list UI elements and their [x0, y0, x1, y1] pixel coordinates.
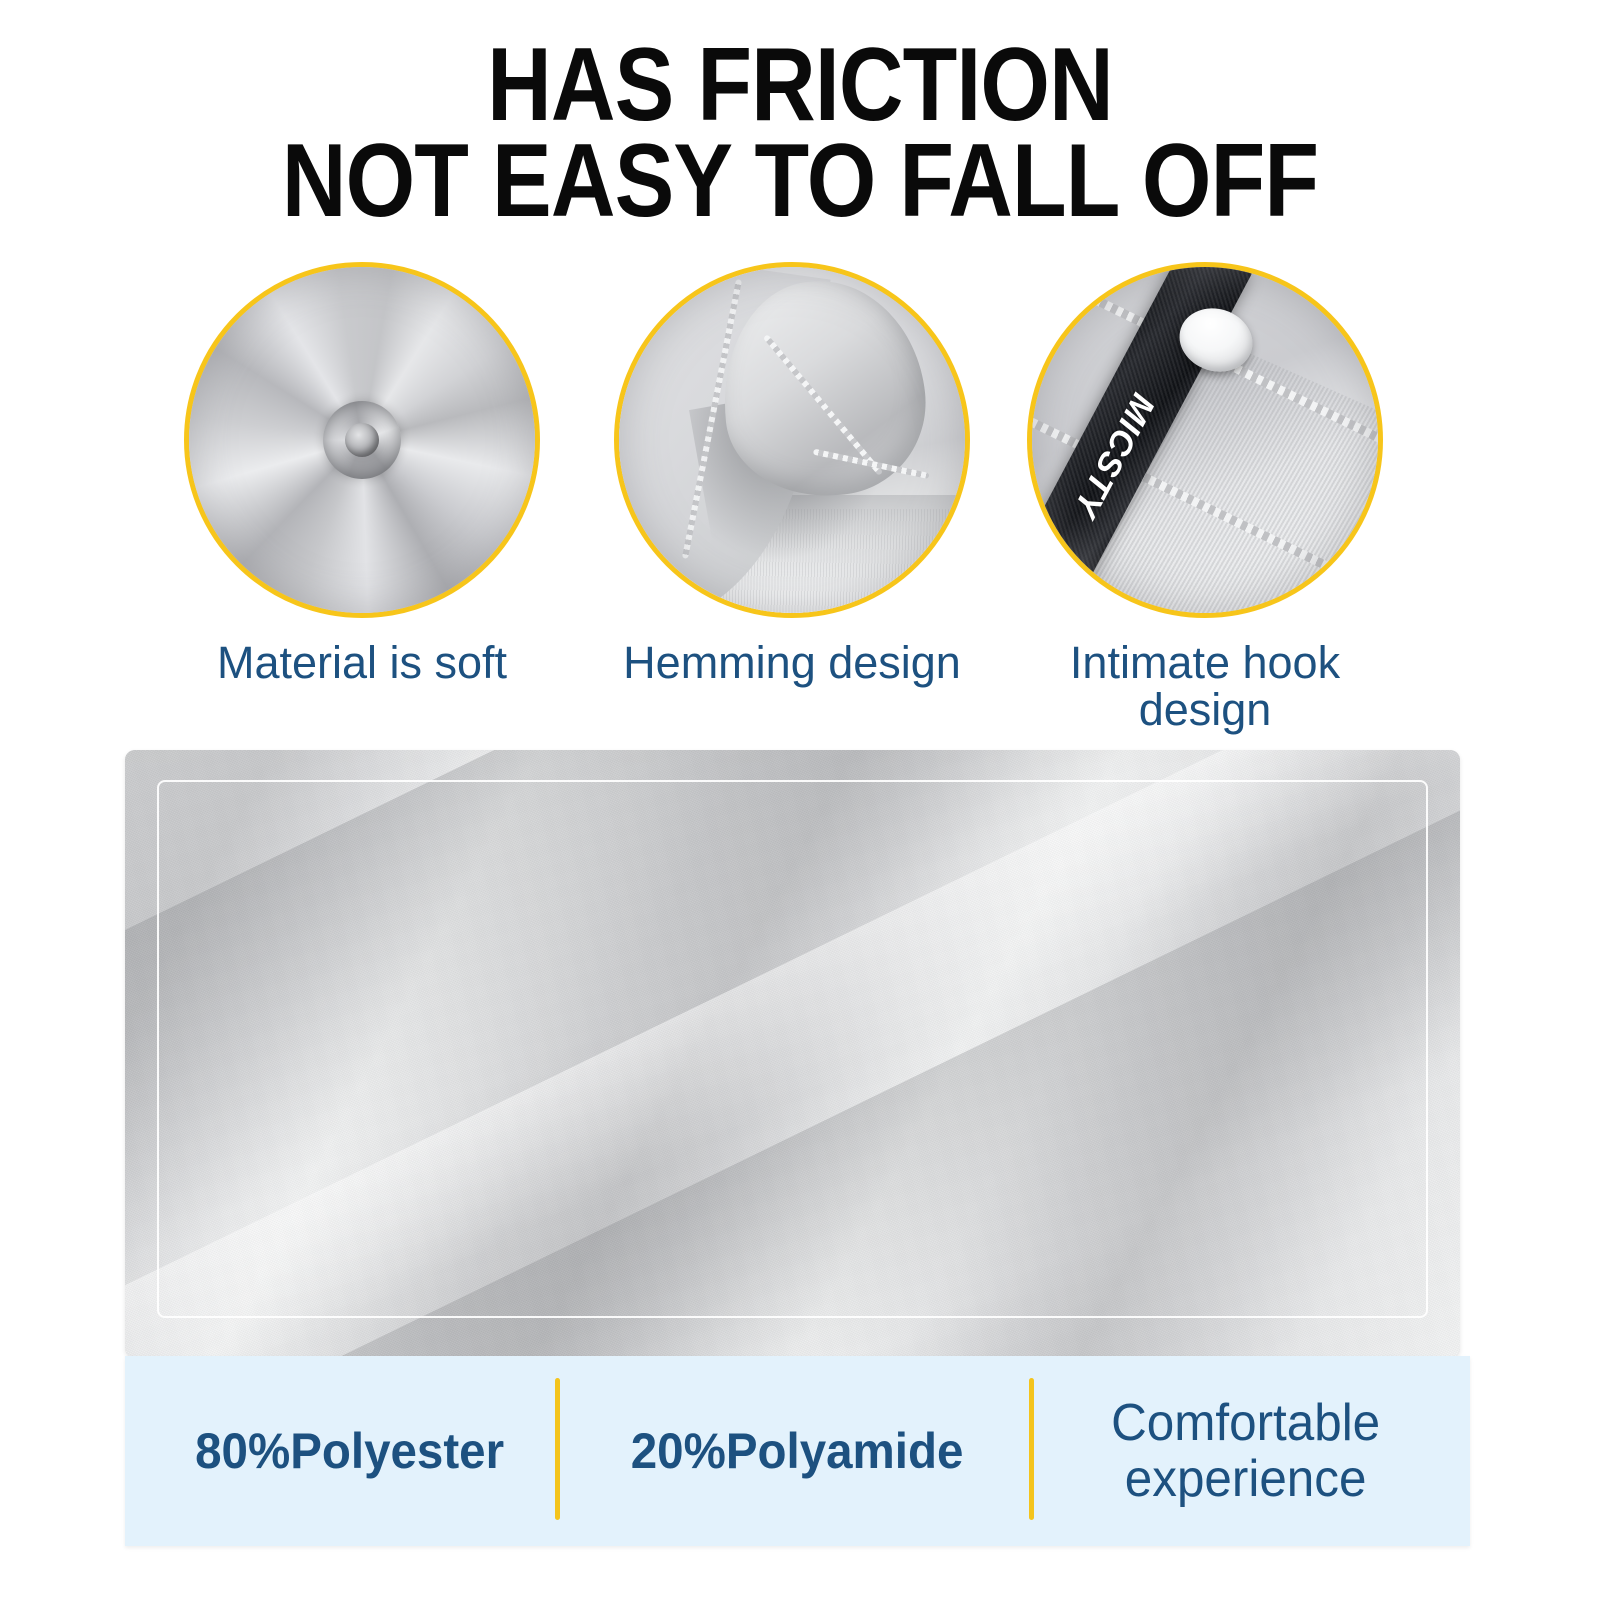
- hero-fabric-photo: [125, 750, 1460, 1358]
- twisted-fabric-photo: [189, 267, 535, 613]
- hemmed-edge-icon: [614, 262, 970, 618]
- info-cell-polyamide: 20%Polyamide: [573, 1356, 1021, 1546]
- hero-inset-border: [157, 780, 1428, 1318]
- feature-list: Material is soft Hemming design: [0, 262, 1600, 732]
- info-label: 80%Polyester: [195, 1424, 504, 1478]
- info-label: Comfortableexperience: [1111, 1395, 1380, 1507]
- feature-caption: Intimate hook design: [1005, 640, 1405, 734]
- hemmed-edge-photo: [619, 267, 965, 613]
- feature-item-hook-design: MICSTY Intimate hook design: [1019, 262, 1391, 618]
- twisted-fabric-icon: [184, 262, 540, 618]
- feature-item-material-soft: Material is soft: [176, 262, 548, 618]
- circle-vignette: [619, 267, 965, 613]
- circle-vignette: [189, 267, 535, 613]
- hook-strap-photo: MICSTY: [1032, 267, 1378, 613]
- feature-caption: Hemming design: [606, 640, 978, 687]
- page-title: HAS FRICTION NOT EASY TO FALL OFF: [112, 38, 1488, 229]
- info-cell-polyester: 80%Polyester: [125, 1356, 573, 1546]
- info-label: 20%Polyamide: [631, 1424, 964, 1478]
- headline-line-2: NOT EASY TO FALL OFF: [112, 134, 1488, 230]
- info-cell-comfort: Comfortableexperience: [1022, 1356, 1470, 1546]
- material-info-bar: 80%Polyester 20%Polyamide Comfortableexp…: [125, 1356, 1470, 1546]
- info-divider-1: [555, 1378, 560, 1520]
- circle-vignette: [1032, 267, 1378, 613]
- info-divider-2: [1029, 1378, 1034, 1520]
- feature-item-hemming-design: Hemming design: [606, 262, 978, 618]
- feature-caption: Material is soft: [176, 640, 548, 687]
- hook-strap-icon: MICSTY: [1027, 262, 1383, 618]
